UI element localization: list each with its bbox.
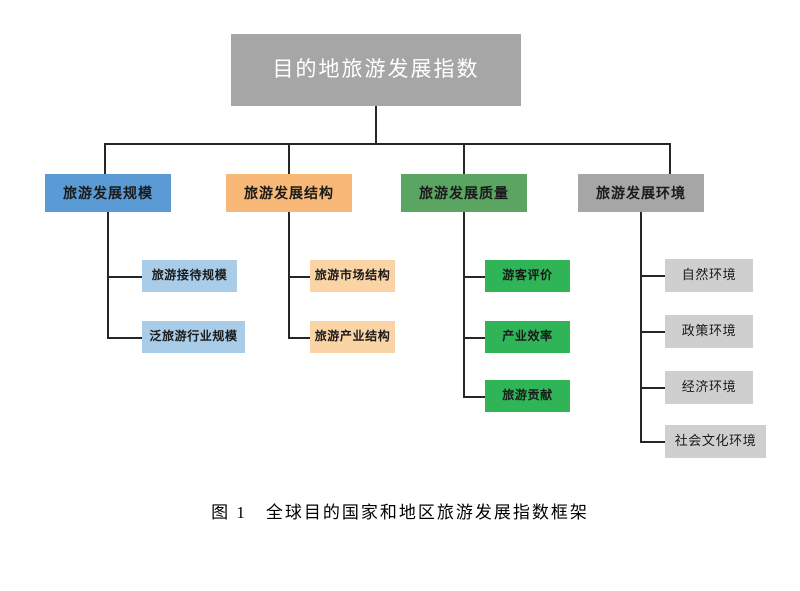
figure-caption: 图 1 全球目的国家和地区旅游发展指数框架 [0,498,800,523]
branch-node-scale[interactable]: 旅游发展规模 [45,174,171,212]
connector-stub-structure-1 [288,337,310,339]
leaf-node-quality-0[interactable]: 游客评价 [485,260,570,292]
connector-stub-quality-0 [463,276,485,278]
connector-drop-structure [288,143,290,174]
branch-node-quality[interactable]: 旅游发展质量 [401,174,527,212]
leaf-node-structure-1[interactable]: 旅游产业结构 [310,321,395,353]
leaf-node-scale-0[interactable]: 旅游接待规模 [142,260,237,292]
leaf-node-scale-1[interactable]: 泛旅游行业规模 [142,321,245,353]
connector-stub-structure-0 [288,276,310,278]
branch-node-structure[interactable]: 旅游发展结构 [226,174,352,212]
connector-spine-scale [107,212,109,338]
connector-root-stem [375,106,377,144]
leaf-node-environment-2[interactable]: 经济环境 [665,371,753,404]
connector-stub-scale-1 [107,337,142,339]
leaf-node-quality-1[interactable]: 产业效率 [485,321,570,353]
connector-stub-quality-2 [463,396,485,398]
connector-stub-scale-0 [107,276,142,278]
connector-spine-quality [463,212,465,397]
connector-spine-structure [288,212,290,338]
connector-stub-environment-3 [640,441,665,443]
connector-drop-environment [669,143,671,174]
leaf-node-environment-3[interactable]: 社会文化环境 [665,425,766,458]
leaf-node-structure-0[interactable]: 旅游市场结构 [310,260,395,292]
figure-canvas: 目的地旅游发展指数 旅游发展规模 旅游接待规模 泛旅游行业规模 旅游发展结构 旅… [0,0,800,591]
leaf-node-environment-0[interactable]: 自然环境 [665,259,753,292]
connector-spine-environment [640,212,642,442]
connector-stub-environment-2 [640,387,665,389]
leaf-node-quality-2[interactable]: 旅游贡献 [485,380,570,412]
connector-stub-environment-1 [640,331,665,333]
connector-stub-environment-0 [640,275,665,277]
connector-root-bus [104,143,671,145]
connector-drop-quality [463,143,465,174]
leaf-node-environment-1[interactable]: 政策环境 [665,315,753,348]
connector-drop-scale [104,143,106,174]
root-node[interactable]: 目的地旅游发展指数 [231,34,521,106]
branch-node-environment[interactable]: 旅游发展环境 [578,174,704,212]
connector-stub-quality-1 [463,337,485,339]
